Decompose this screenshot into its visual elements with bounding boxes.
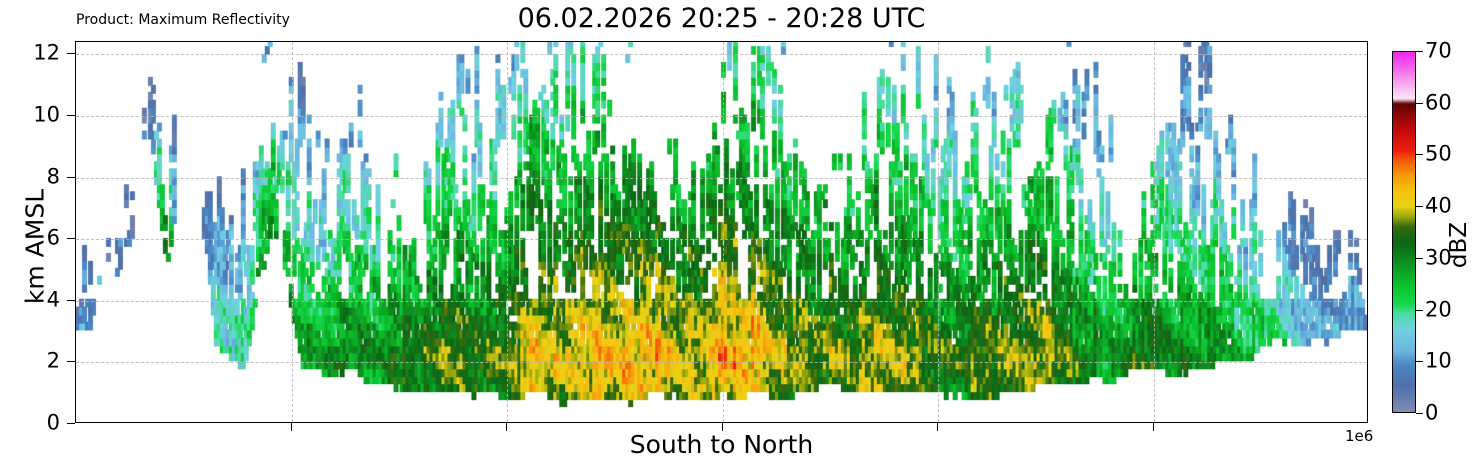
colorbar-axis-label: dBZ (1446, 185, 1472, 305)
plot-area[interactable] (75, 41, 1368, 423)
colorbar-tick-mark (1416, 103, 1423, 104)
y-axis-tick-mark (67, 238, 75, 239)
colorbar-gradient (1392, 51, 1416, 413)
colorbar-tick-mark (1416, 154, 1423, 155)
colorbar-tick-label: 10 (1425, 351, 1452, 372)
y-axis-tick-label: 2 (47, 351, 60, 372)
colorbar-tick-mark (1416, 258, 1423, 259)
colorbar-tick-label: 60 (1425, 92, 1452, 113)
colorbar-tick-mark (1416, 51, 1423, 52)
reflectivity-heatmap-canvas (76, 42, 1367, 422)
page-title: 06.02.2026 20:25 - 20:28 UTC (75, 4, 1368, 34)
radar-cross-section-figure: Product: Maximum Reflectivity 06.02.2026… (0, 0, 1482, 470)
y-axis-tick-label: 10 (33, 104, 60, 125)
y-axis-tick-mark (67, 423, 75, 424)
colorbar (1392, 51, 1416, 413)
colorbar-tick-label: 50 (1425, 144, 1452, 165)
y-axis-tick-mark (67, 53, 75, 54)
x-axis-offset-text: 1e6 (1345, 427, 1373, 445)
y-axis-tick-mark (67, 115, 75, 116)
y-axis-tick-label: 0 (47, 413, 60, 434)
y-axis-tick-mark (67, 361, 75, 362)
y-axis-label: km AMSL (21, 152, 50, 342)
y-axis-tick-label: 12 (33, 43, 60, 64)
x-axis-label: South to North (75, 430, 1368, 459)
colorbar-tick-mark (1416, 413, 1423, 414)
colorbar-tick-label: 0 (1425, 403, 1438, 424)
y-axis-tick-mark (67, 177, 75, 178)
colorbar-tick-mark (1416, 206, 1423, 207)
colorbar-tick-mark (1416, 310, 1423, 311)
colorbar-tick-label: 70 (1425, 41, 1452, 62)
colorbar-tick-mark (1416, 361, 1423, 362)
y-axis-tick-mark (67, 300, 75, 301)
